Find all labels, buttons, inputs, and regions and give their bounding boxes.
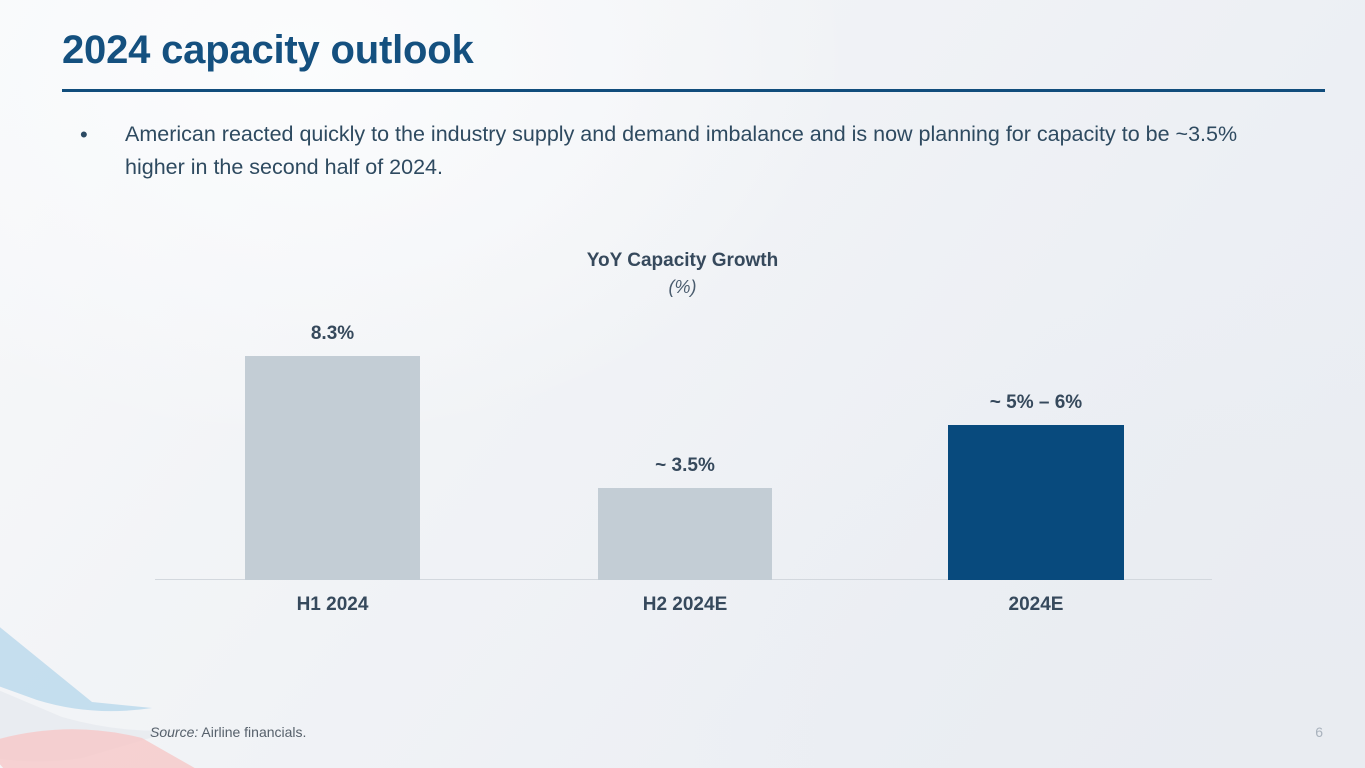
chart-category-label: 2024E	[948, 594, 1124, 616]
bullet-list-item: • American reacted quickly to the indust…	[80, 118, 1260, 184]
chart-bar-value-label: 8.3%	[245, 323, 420, 345]
chart-title: YoY Capacity Growth	[0, 250, 1365, 272]
chart-category-label: H1 2024	[245, 594, 420, 616]
chart-baseline-axis	[155, 579, 1212, 580]
chart-bar	[948, 425, 1124, 580]
bullet-text: American reacted quickly to the industry…	[125, 118, 1260, 184]
chart-bar	[245, 356, 420, 580]
source-note: Source: Airline financials.	[150, 724, 306, 740]
title-underline-rule	[62, 89, 1325, 92]
chart-category-label: H2 2024E	[598, 594, 772, 616]
source-value: Airline financials.	[201, 724, 306, 740]
page-title: 2024 capacity outlook	[62, 28, 474, 73]
bar-chart: YoY Capacity Growth (%) 8.3%H1 2024~ 3.5…	[0, 0, 1365, 768]
source-label: Source:	[150, 724, 198, 740]
chart-subtitle-units: (%)	[0, 277, 1365, 298]
chart-bar-value-label: ~ 3.5%	[598, 455, 772, 477]
page-number: 6	[1315, 724, 1323, 740]
chart-bar	[598, 488, 772, 580]
chart-bar-value-label: ~ 5% – 6%	[948, 392, 1124, 414]
chart-plot-area	[155, 300, 1212, 581]
slide-canvas: 2024 capacity outlook • American reacted…	[0, 0, 1365, 768]
bullet-marker-icon: •	[80, 118, 125, 152]
